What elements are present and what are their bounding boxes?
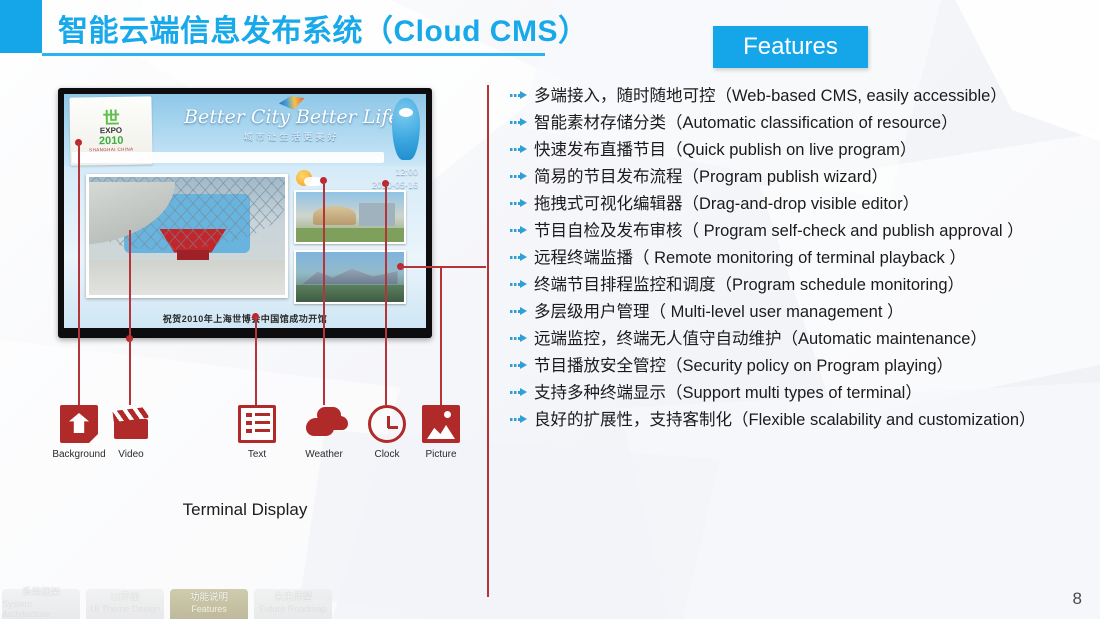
list-item: 多层级用户管理（ Multi-level user management ） — [508, 302, 1088, 325]
terminal-icon-row: Background Video Text Weather Clock Pict… — [58, 405, 478, 475]
list-item: 节目播放安全管控（Security policy on Program play… — [508, 356, 1088, 379]
feature-text: 良好的扩展性，支持客制化（Flexible scalability and cu… — [534, 410, 1036, 431]
video-icon — [112, 405, 150, 443]
list-item: 快速发布直播节目（Quick publish on live program） — [508, 140, 1088, 163]
arrow-bullet-icon — [508, 302, 534, 322]
arrow-bullet-icon — [508, 113, 534, 133]
arrow-bullet-icon — [508, 167, 534, 187]
picture-icon — [422, 405, 460, 443]
feature-text: 简易的节目发布流程（Program publish wizard） — [534, 167, 888, 188]
callout-line-text — [255, 316, 257, 405]
tab-label-cn: 未来展望 — [274, 593, 312, 604]
icon-item-background[interactable]: Background — [50, 405, 108, 460]
tab-system-architecture[interactable]: 系统框架 System Architecture — [2, 589, 80, 619]
callout-line-clock — [385, 183, 387, 405]
weather-icon — [305, 405, 343, 443]
arrow-bullet-icon — [508, 329, 534, 349]
list-item: 远端监控，终端无人值守自动维护（Automatic maintenance） — [508, 329, 1088, 352]
thumb-grass — [296, 228, 404, 242]
slide: 智能云端信息发布系统（Cloud CMS） Features 世 EXPO 20… — [0, 0, 1100, 619]
feature-text: 智能素材存储分类（Automatic classification of res… — [534, 113, 958, 134]
header-underline — [42, 53, 545, 56]
list-item: 智能素材存储分类（Automatic classification of res… — [508, 113, 1088, 136]
tab-ui-theme-design[interactable]: UI界面 UI Theme Design — [86, 589, 164, 619]
terminal-display-caption: Terminal Display — [58, 500, 432, 520]
arrow-bullet-icon — [508, 194, 534, 214]
screen-slogan-cn: 城市让生活更美好 — [184, 130, 399, 143]
arrow-bullet-icon — [508, 356, 534, 376]
screen-thumbnail-1 — [294, 190, 406, 244]
feature-text: 远程终端监播（ Remote monitoring of terminal pl… — [534, 248, 966, 269]
arrow-bullet-icon — [508, 86, 534, 106]
feature-text: 快速发布直播节目（Quick publish on live program） — [534, 140, 916, 161]
text-icon — [238, 405, 276, 443]
terminal-display-image: 世 EXPO 2010 SHANGHAI CHINA Better City B… — [58, 88, 432, 338]
arrow-bullet-icon — [508, 221, 534, 241]
thumb-building — [359, 203, 396, 226]
list-item: 简易的节目发布流程（Program publish wizard） — [508, 167, 1088, 190]
feature-text: 支持多种终端显示（Support multi types of terminal… — [534, 383, 922, 404]
callout-line-picture — [440, 266, 442, 405]
feature-text: 终端节目排程监控和调度（Program schedule monitoring） — [534, 275, 964, 296]
icon-label: Clock — [358, 449, 416, 460]
icon-item-text[interactable]: Text — [228, 405, 286, 460]
expo-logo-year: 2010 — [99, 136, 124, 147]
tab-label-en: Future Roadmap — [259, 604, 327, 614]
list-item: 终端节目排程监控和调度（Program schedule monitoring） — [508, 275, 1088, 298]
icon-label: Picture — [412, 449, 470, 460]
feature-text: 多层级用户管理（ Multi-level user management ） — [534, 302, 904, 323]
icon-label: Weather — [295, 449, 353, 460]
callout-line-weather — [323, 180, 325, 405]
list-item: 支持多种终端显示（Support multi types of terminal… — [508, 383, 1088, 406]
callout-line-video — [129, 230, 131, 405]
arrow-bullet-icon — [508, 248, 534, 268]
icon-item-weather[interactable]: Weather — [295, 405, 353, 460]
feature-text: 节目播放安全管控（Security policy on Program play… — [534, 356, 953, 377]
list-item: 远程终端监播（ Remote monitoring of terminal pl… — [508, 248, 1088, 271]
screen-thumbnail-2 — [294, 250, 406, 304]
list-item: 多端接入，随时随地可控（Web-based CMS, easily access… — [508, 86, 1088, 109]
page-number: 8 — [1073, 589, 1082, 609]
header-accent-block — [0, 0, 42, 53]
screen-main-photo — [86, 174, 288, 298]
tab-label-cn: UI界面 — [111, 593, 140, 604]
features-list: 多端接入，随时随地可控（Web-based CMS, easily access… — [508, 86, 1088, 437]
arrow-bullet-icon — [508, 383, 534, 403]
screen-time: 12:00 — [372, 166, 418, 179]
icon-label: Text — [228, 449, 286, 460]
tab-label-en: UI Theme Design — [90, 604, 160, 614]
screen-slogan-en: Better City Better Life — [184, 106, 399, 128]
feature-text: 拖拽式可视化编辑器（Drag-and-drop visible editor） — [534, 194, 919, 215]
icon-label: Background — [50, 449, 108, 460]
tab-label-cn: 系统框架 — [22, 588, 60, 599]
arrow-bullet-icon — [508, 140, 534, 160]
tab-label-cn: 功能说明 — [190, 593, 228, 604]
list-item: 节目自检及发布审核（ Program self-check and publis… — [508, 221, 1088, 244]
icon-label: Video — [102, 449, 160, 460]
tab-label-en: Features — [191, 604, 227, 614]
clock-icon — [368, 405, 406, 443]
background-icon — [60, 405, 98, 443]
feature-text: 多端接入，随时随地可控（Web-based CMS, easily access… — [534, 86, 1007, 107]
haibao-mascot-icon — [392, 98, 420, 160]
icon-item-clock[interactable]: Clock — [358, 405, 416, 460]
screen-clock: 12:00 2010-05-16 — [372, 166, 418, 191]
feature-text: 远端监控，终端无人值守自动维护（Automatic maintenance） — [534, 329, 987, 350]
thumb-water — [296, 285, 404, 302]
photo-ground — [89, 260, 285, 295]
list-item: 拖拽式可视化编辑器（Drag-and-drop visible editor） — [508, 194, 1088, 217]
feature-text: 节目自检及发布审核（ Program self-check and publis… — [534, 221, 1024, 242]
screen-ticker: 祝贺2010年上海世博会中国馆成功开馆 — [64, 312, 426, 325]
thumb-mountain — [302, 267, 397, 284]
screen-input-bar — [72, 152, 384, 163]
weather-sun-icon — [296, 170, 322, 188]
icon-item-picture[interactable]: Picture — [412, 405, 470, 460]
tab-features[interactable]: 功能说明 Features — [170, 589, 248, 619]
section-tabs: 系统框架 System Architecture UI界面 UI Theme D… — [2, 587, 332, 619]
terminal-screen: 世 EXPO 2010 SHANGHAI CHINA Better City B… — [64, 94, 426, 328]
section-divider — [487, 85, 489, 597]
list-item: 良好的扩展性，支持客制化（Flexible scalability and cu… — [508, 410, 1088, 433]
callout-line-background — [78, 142, 80, 405]
expo-logo-mark: 世 — [103, 110, 119, 127]
arrow-bullet-icon — [508, 410, 534, 430]
icon-item-video[interactable]: Video — [102, 405, 160, 460]
tab-future-roadmap[interactable]: 未来展望 Future Roadmap — [254, 589, 332, 619]
tab-label-en: System Architecture — [2, 599, 80, 619]
features-badge: Features — [713, 26, 868, 68]
thumb-dome — [313, 206, 356, 225]
arrow-bullet-icon — [508, 275, 534, 295]
page-title: 智能云端信息发布系统（Cloud CMS） — [58, 6, 588, 50]
callout-line-picture-h — [400, 266, 486, 268]
